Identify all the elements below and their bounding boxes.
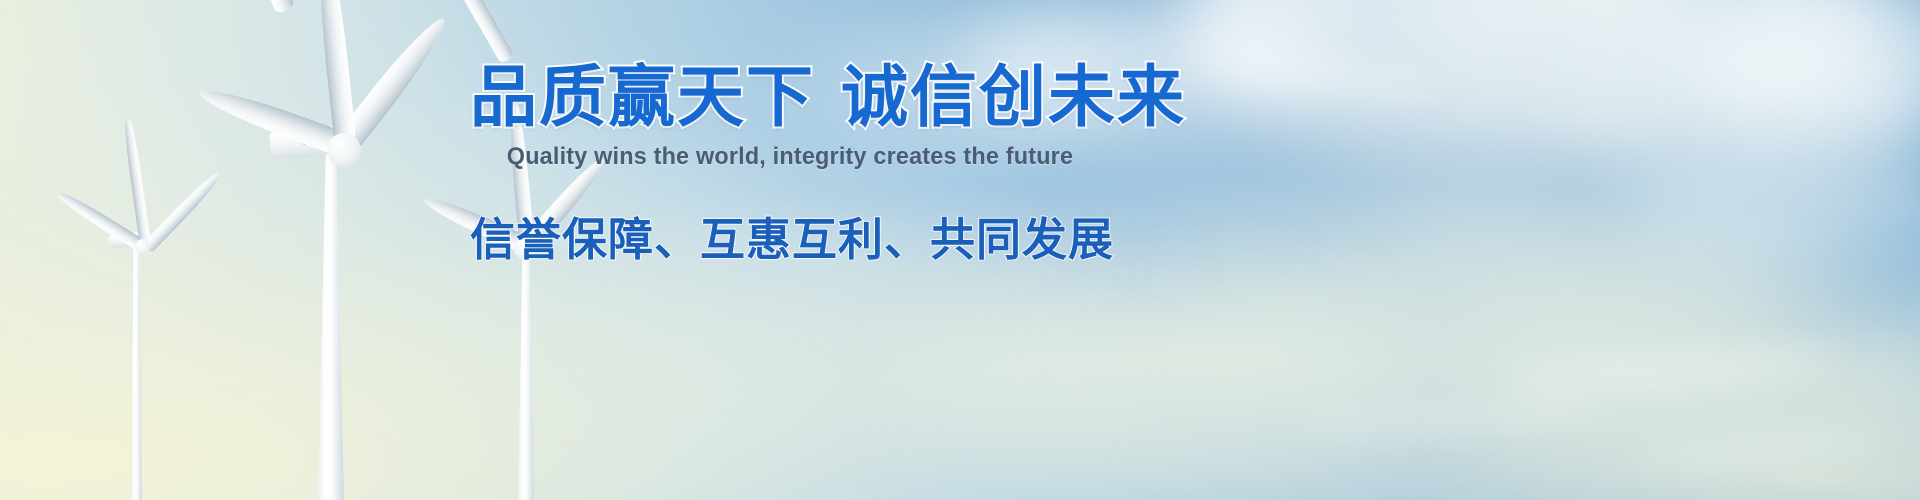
headline-part-1: 品质赢天下 xyxy=(470,60,815,135)
banner-headline: 品质赢天下诚信创未来 xyxy=(470,62,1110,134)
hero-banner: 品质赢天下诚信创未来 Quality wins the world, integ… xyxy=(0,0,1920,500)
turbine-tower xyxy=(131,248,142,500)
cloud-icon xyxy=(900,300,1420,470)
turbine-blade xyxy=(175,0,295,14)
banner-subtitle-english: Quality wins the world, integrity create… xyxy=(484,144,1095,171)
turbine-hub xyxy=(135,239,150,254)
banner-tagline: 信誉保障、互惠互利、共同发展 xyxy=(470,215,1110,265)
headline-part-2: 诚信创未来 xyxy=(841,60,1186,135)
turbine-tower xyxy=(518,248,534,500)
turbine-tower xyxy=(318,152,344,500)
turbine-hub xyxy=(327,133,361,167)
turbine-blade xyxy=(122,118,151,246)
